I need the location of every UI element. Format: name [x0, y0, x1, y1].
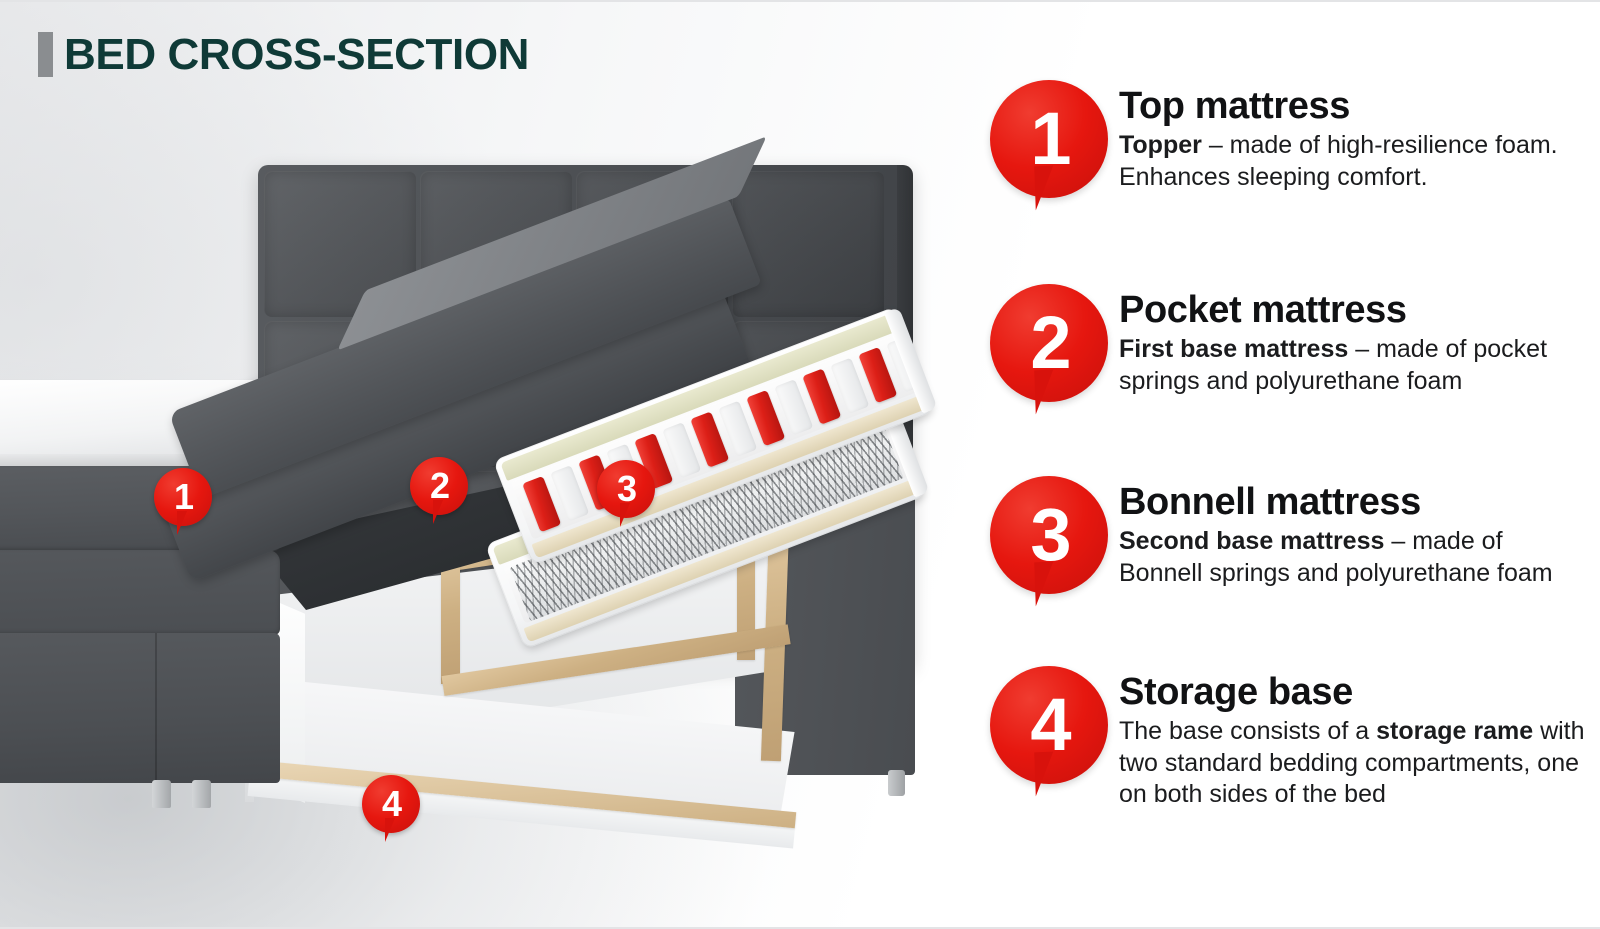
title-accent-bar	[38, 32, 53, 77]
infographic-canvas: BED CROSS-SECTION	[0, 0, 1600, 929]
callout-pin-2-number: 2	[410, 457, 468, 515]
legend-pin-4: 4	[985, 664, 1109, 814]
legend-text-2: Pocket mattress First base mattress – ma…	[1109, 282, 1585, 397]
callout-pin-3-number: 3	[597, 460, 655, 518]
canvas-top-edge	[0, 0, 1600, 2]
legend-body-4-bold: storage rame	[1376, 717, 1533, 745]
callout-pin-1-number: 1	[154, 468, 212, 526]
legend-heading-4: Storage base	[1119, 672, 1585, 712]
lifted-mattress-stack	[175, 225, 935, 625]
legend-body-2-bold: First base mattress	[1119, 335, 1348, 363]
legend-body-1: Topper – made of high-resilience foam. E…	[1119, 130, 1585, 193]
callout-pin-4-number: 4	[362, 775, 420, 833]
page-title: BED CROSS-SECTION	[38, 32, 529, 77]
legend-body-1-bold: Topper	[1119, 131, 1202, 159]
legend-pin-2: 2	[985, 282, 1109, 432]
legend-pin-3: 3	[985, 474, 1109, 624]
bed-leg-right	[888, 770, 905, 796]
base-panel-seam	[155, 633, 157, 783]
bed-illustration: 1 2 3 4	[0, 130, 960, 870]
legend-pin-2-number: 2	[990, 284, 1108, 402]
legend-pin-1-number: 1	[990, 80, 1108, 198]
legend-list: 1 Top mattress Topper – made of high-res…	[985, 78, 1585, 814]
legend-body-4-prefix: The base consists of a	[1119, 717, 1376, 745]
legend-text-4: Storage base The base consists of a stor…	[1109, 664, 1585, 811]
legend-item-storage-base[interactable]: 4 Storage base The base consists of a st…	[985, 664, 1585, 814]
callout-pin-1[interactable]: 1	[152, 468, 214, 544]
legend-heading-2: Pocket mattress	[1119, 290, 1585, 330]
callout-pin-2[interactable]: 2	[408, 457, 470, 533]
legend-body-3: Second base mattress – made of Bonnell s…	[1119, 526, 1585, 589]
legend-pin-4-number: 4	[990, 666, 1108, 784]
legend-pin-1: 1	[985, 78, 1109, 228]
legend-item-pocket-mattress[interactable]: 2 Pocket mattress First base mattress – …	[985, 282, 1585, 432]
legend-heading-1: Top mattress	[1119, 86, 1585, 126]
callout-pin-3[interactable]: 3	[595, 460, 657, 536]
legend-heading-3: Bonnell mattress	[1119, 482, 1585, 522]
legend-item-bonnell-mattress[interactable]: 3 Bonnell mattress Second base mattress …	[985, 474, 1585, 624]
legend-body-2: First base mattress – made of pocket spr…	[1119, 334, 1585, 397]
legend-text-3: Bonnell mattress Second base mattress – …	[1109, 474, 1585, 589]
callout-pin-4[interactable]: 4	[360, 775, 422, 851]
legend-pin-3-number: 3	[990, 476, 1108, 594]
legend-body-3-bold: Second base mattress	[1119, 527, 1384, 555]
title-text: BED CROSS-SECTION	[64, 33, 529, 77]
storage-base-side	[0, 633, 280, 783]
legend-body-4: The base consists of a storage rame with…	[1119, 716, 1585, 811]
bed-leg-front-right	[192, 780, 211, 808]
bed-leg-front-left	[152, 780, 171, 808]
legend-text-1: Top mattress Topper – made of high-resil…	[1109, 78, 1585, 193]
legend-item-top-mattress[interactable]: 1 Top mattress Topper – made of high-res…	[985, 78, 1585, 228]
